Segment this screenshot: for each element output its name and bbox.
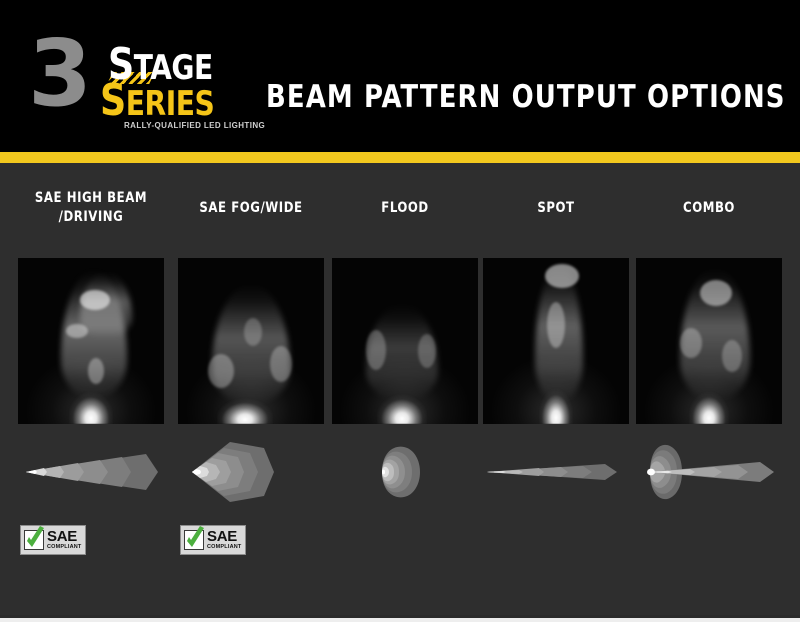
beam-pattern-diagram-spot (483, 440, 629, 504)
column-sae-high-beam-driving: SAE HIGH BEAM /DRIVING (18, 163, 164, 612)
beam-photo-spot (483, 258, 629, 424)
logo-stage-rest: TAGE (134, 48, 213, 88)
header-bar: 3 STAGE SERIES RALLY-QUALIFIED LED LIGHT… (0, 0, 800, 152)
photo-road-hotspot (69, 376, 113, 424)
beam-pattern-diagram-driving (18, 440, 164, 504)
logo-tagline: RALLY-QUALIFIED LED LIGHTING (124, 121, 265, 130)
column-label: SPOT (490, 199, 621, 218)
beam-photo-flood (332, 258, 478, 424)
photo-road-hotspot (539, 372, 573, 424)
photo-highlight-fleck (722, 340, 742, 372)
beam-photo-combo (636, 258, 782, 424)
beam-shape-svg (332, 440, 478, 504)
photo-road-hotspot (377, 380, 427, 424)
checkbox-icon (184, 530, 204, 550)
photo-road-hotspot (689, 376, 729, 424)
beam-shape-svg (483, 440, 629, 504)
photo-road-hotspot (217, 386, 273, 424)
logo-series-cap: S (100, 75, 126, 126)
column-sae-fog-wide: SAE FOG/WIDE (178, 163, 324, 612)
photo-highlight-fleck (680, 328, 702, 358)
check-icon (182, 525, 208, 553)
beam-shape-svg (636, 440, 782, 504)
beam-pattern-diagram-combo (636, 440, 782, 504)
badge-subtitle: COMPLIANT (47, 544, 82, 551)
beam-shape-svg (18, 440, 164, 504)
column-label: SAE FOG/WIDE (185, 199, 316, 218)
beam-pattern-diagram-flood (332, 440, 478, 504)
photo-highlight-fleck (80, 290, 110, 310)
column-label: SAE HIGH BEAM /DRIVING (25, 189, 156, 227)
column-spot: SPOT (483, 163, 629, 612)
photo-highlight-fleck (545, 264, 579, 288)
photo-highlight-fleck (208, 354, 234, 388)
photo-highlight-fleck (366, 330, 386, 370)
beam-pattern-diagram-fog-wide (178, 440, 324, 504)
photo-highlight-fleck (700, 280, 732, 306)
badge-text: SAE COMPLIANT (207, 529, 242, 551)
beam-shape-svg (178, 440, 324, 504)
footer-rule (0, 618, 800, 622)
checkbox-icon (24, 530, 44, 550)
sae-compliant-badge: SAE COMPLIANT (20, 525, 86, 555)
beam-photo-driving (18, 258, 164, 424)
logo-word-series: SERIES (100, 84, 214, 121)
yellow-divider (0, 152, 800, 163)
beam-photo-fog-wide (178, 258, 324, 424)
logo-series-rest: ERIES (126, 84, 215, 124)
column-flood: FLOOD (332, 163, 478, 612)
check-icon (22, 525, 48, 553)
beam-pattern-infographic: 3 STAGE SERIES RALLY-QUALIFIED LED LIGHT… (0, 0, 800, 622)
badge-subtitle: COMPLIANT (207, 544, 242, 551)
badge-title: SAE (47, 529, 82, 544)
logo-numeral: 3 (28, 28, 88, 120)
column-label: COMBO (643, 199, 774, 218)
photo-highlight-fleck (244, 318, 262, 346)
photo-highlight-fleck (547, 302, 565, 348)
sae-compliant-badge: SAE COMPLIANT (180, 525, 246, 555)
brand-logo: 3 STAGE SERIES RALLY-QUALIFIED LED LIGHT… (28, 26, 243, 132)
page-title: BEAM PATTERN OUTPUT OPTIONS (266, 80, 750, 114)
badge-title: SAE (207, 529, 242, 544)
beam-columns-grid: SAE HIGH BEAM /DRIVING (0, 163, 800, 612)
photo-highlight-fleck (418, 334, 436, 368)
column-label: FLOOD (339, 199, 470, 218)
photo-highlight-fleck (270, 346, 292, 382)
photo-highlight-fleck (66, 324, 88, 338)
badge-text: SAE COMPLIANT (47, 529, 82, 551)
column-combo: COMBO (636, 163, 782, 612)
